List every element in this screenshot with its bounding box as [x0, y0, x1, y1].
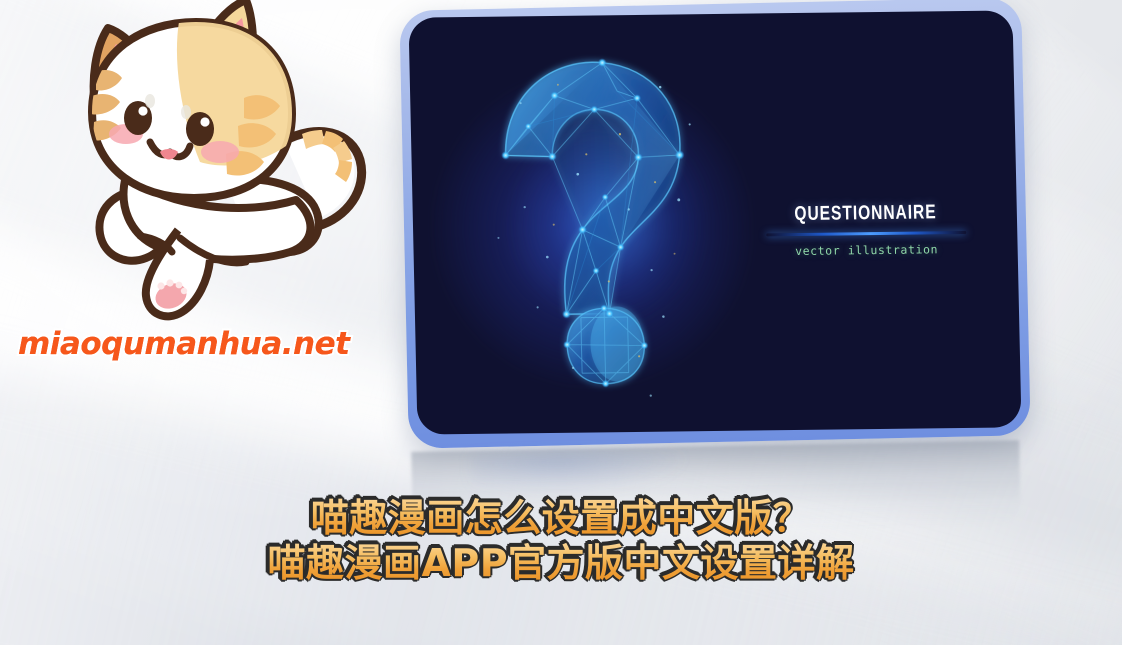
- card-border-frame: QUESTIONNAIRE vector illustration: [399, 0, 1030, 449]
- questionnaire-card: QUESTIONNAIRE vector illustration: [399, 0, 1030, 449]
- question-mark-icon: [457, 47, 718, 409]
- card-reflection-glint: [470, 450, 691, 498]
- card-screen: QUESTIONNAIRE vector illustration: [408, 10, 1021, 434]
- card-caption-block: QUESTIONNAIRE vector illustration: [766, 201, 967, 258]
- card-title: QUESTIONNAIRE: [788, 201, 944, 226]
- card-divider-rule: [767, 231, 966, 236]
- mascot-running-cat: [30, 0, 370, 334]
- site-watermark-fill: miaoqumanhua.net: [18, 326, 349, 362]
- card-subtitle: vector illustration: [767, 242, 967, 258]
- hero-banner-stage: miaoqumanhua.net miaoqumanhua.net: [0, 0, 1122, 645]
